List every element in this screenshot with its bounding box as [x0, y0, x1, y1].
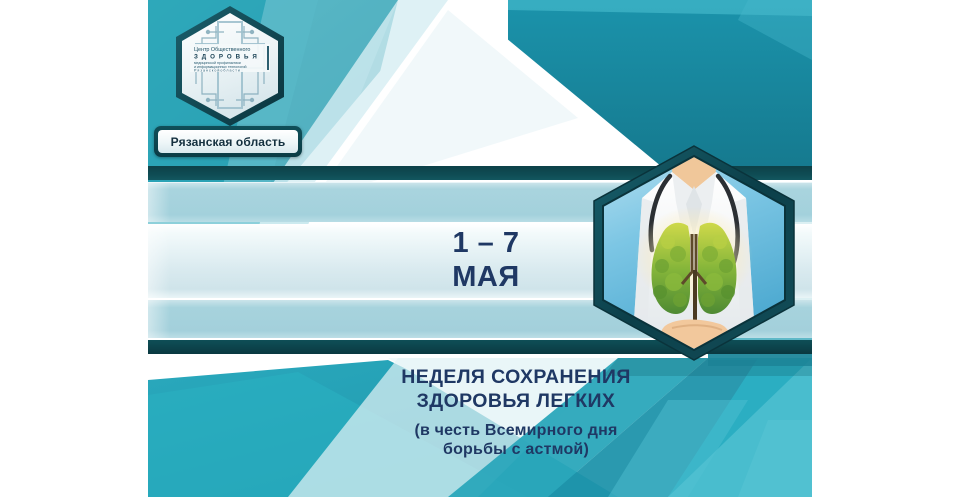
region-badge-inner: Рязанская область — [158, 130, 298, 153]
slide: 1 – 7 МАЯ — [148, 0, 812, 497]
region-badge: Рязанская область — [154, 126, 302, 157]
region-badge-label: Рязанская область — [171, 135, 286, 149]
date-month: МАЯ — [440, 263, 519, 293]
headline-sub-line-2: борьбы с астмой) — [296, 440, 736, 460]
date-range: 1 – 7 — [441, 229, 520, 259]
slide-canvas: 1 – 7 МАЯ — [0, 0, 960, 497]
public-health-center-hex-logo: Центр Общественного З Д О Р О В Ь Я меди… — [172, 4, 288, 128]
logo-line1: Центр Общественного — [194, 47, 250, 53]
headline-block: НЕДЕЛЯ СОХРАНЕНИЯ ЗДОРОВЬЯ ЛЕГКИХ (в чес… — [296, 366, 736, 460]
headline-sub-line-1: (в честь Всемирного дня — [296, 421, 736, 441]
logo-line2: З Д О Р О В Ь Я — [194, 54, 258, 61]
doctor-holding-green-lungs-photo — [584, 142, 804, 364]
headline-line-2: ЗДОРОВЬЯ ЛЕГКИХ — [296, 390, 736, 414]
banner-highlight — [148, 300, 170, 338]
headline-title: НЕДЕЛЯ СОХРАНЕНИЯ ЗДОРОВЬЯ ЛЕГКИХ — [296, 366, 736, 414]
headline-subtitle: (в честь Всемирного дня борьбы с астмой) — [296, 421, 736, 460]
logo-line5: Р я з а н с к о й о б л а с т и — [194, 69, 240, 73]
headline-line-1: НЕДЕЛЯ СОХРАНЕНИЯ — [296, 366, 736, 390]
banner-highlight — [148, 182, 170, 222]
